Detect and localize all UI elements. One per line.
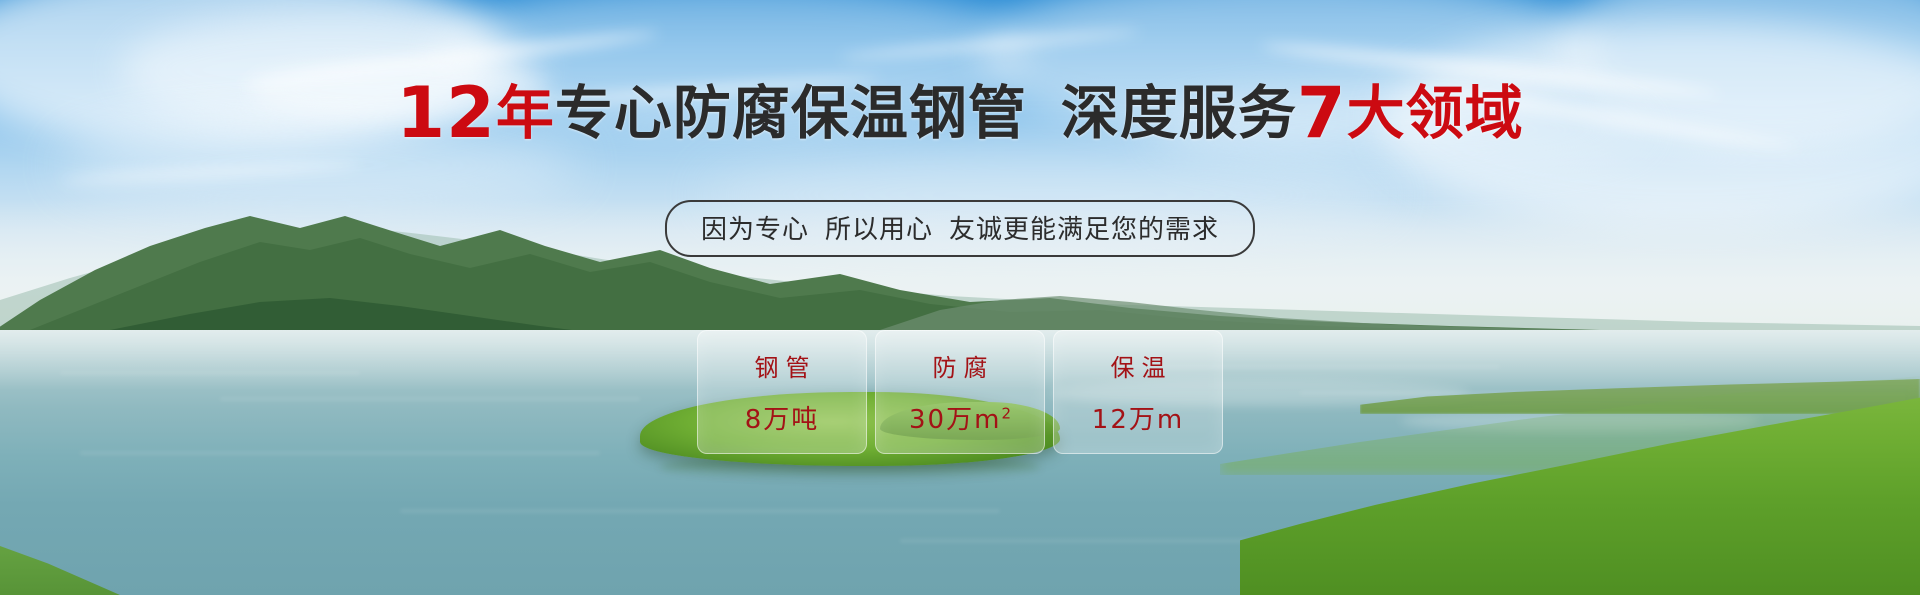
subtitle-part-3: 友诚更能满足您的需求 bbox=[949, 215, 1219, 245]
stat-value-text: 8万吨 bbox=[745, 405, 820, 435]
banner-content: 12年专心防腐保温钢管深度服务7大领域 因为专心所以用心友诚更能满足您的需求 钢… bbox=[0, 0, 1920, 595]
subtitle-part-1: 因为专心 bbox=[701, 215, 809, 245]
subtitle-pill: 因为专心所以用心友诚更能满足您的需求 bbox=[665, 200, 1255, 257]
stat-value-text: 12万m bbox=[1092, 405, 1184, 435]
stat-value: 8万吨 bbox=[745, 399, 820, 436]
subtitle-part-2: 所以用心 bbox=[825, 215, 933, 245]
stat-value: 12万m bbox=[1092, 399, 1184, 436]
stat-label: 防腐 bbox=[926, 348, 995, 383]
stat-card-insulation: 保温 12万m bbox=[1053, 330, 1223, 454]
headline-service-text: 深度服务 bbox=[1061, 79, 1297, 147]
stat-label: 保温 bbox=[1104, 348, 1173, 383]
headline-fields-unit: 大领域 bbox=[1347, 79, 1524, 147]
stats-group: 钢管 8万吨 防腐 30万m2 保温 12万m bbox=[697, 330, 1223, 454]
headline: 12年专心防腐保温钢管深度服务7大领域 bbox=[0, 82, 1920, 144]
headline-years-unit: 年 bbox=[496, 79, 555, 147]
stat-value-superscript: 2 bbox=[1001, 404, 1011, 422]
stat-card-steel-pipe: 钢管 8万吨 bbox=[697, 330, 867, 454]
stat-value-text: 30万m bbox=[909, 405, 1001, 435]
stat-value: 30万m2 bbox=[909, 399, 1011, 436]
headline-main-text: 专心防腐保温钢管 bbox=[555, 79, 1027, 147]
stat-card-anticorrosion: 防腐 30万m2 bbox=[875, 330, 1045, 454]
headline-years-number: 12 bbox=[396, 72, 495, 154]
headline-fields-number: 7 bbox=[1297, 72, 1347, 154]
hero-banner: 12年专心防腐保温钢管深度服务7大领域 因为专心所以用心友诚更能满足您的需求 钢… bbox=[0, 0, 1920, 595]
stat-label: 钢管 bbox=[748, 348, 817, 383]
